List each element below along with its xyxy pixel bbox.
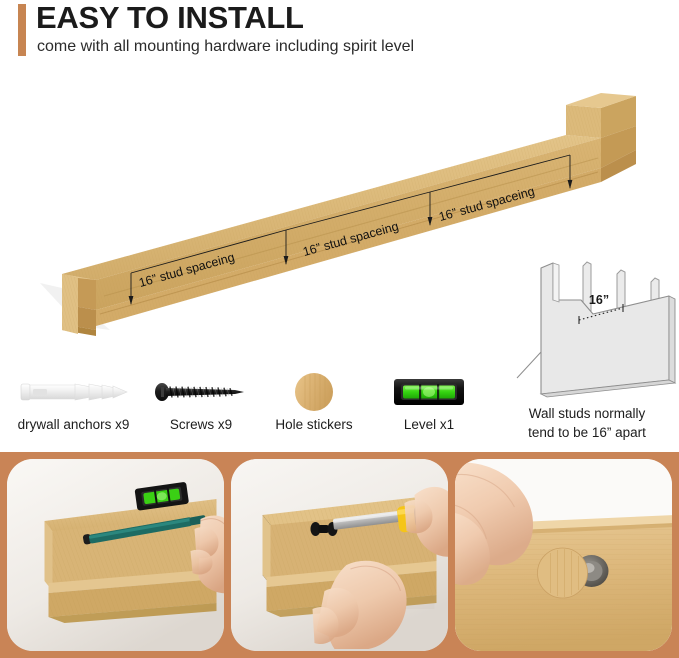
wall-studs-caption-line-2: tend to be 16” apart <box>495 423 679 442</box>
hardware-item-hole-stickers: Hole stickers <box>262 370 366 432</box>
wall-studs-drawing: 16” <box>495 252 679 402</box>
photo-hole-sticker <box>455 459 672 651</box>
photo-level-on-shelf <box>7 459 224 651</box>
hardware-label-level: Level x1 <box>376 417 482 432</box>
screw-icon <box>146 370 256 414</box>
accent-bar <box>18 4 26 56</box>
wall-studs-diagram: 16” Wall studs normally tend to be 16” a… <box>495 252 679 442</box>
stud-measure-label: 16” <box>589 293 609 307</box>
hole-sticker-icon <box>262 370 366 414</box>
wall-studs-caption: Wall studs normally tend to be 16” apart <box>495 404 679 442</box>
hardware-item-level: Level x1 <box>376 370 482 432</box>
photo-strip <box>0 452 679 658</box>
page-subtitle: come with all mounting hardware includin… <box>37 36 414 58</box>
drywall-anchor-icon <box>6 370 141 414</box>
hardware-label-screws: Screws x9 <box>146 417 256 432</box>
hardware-label-drywall-anchors: drywall anchors x9 <box>6 417 141 432</box>
hardware-label-hole-stickers: Hole stickers <box>262 417 366 432</box>
photo-screwdriver <box>231 459 448 651</box>
hardware-item-screws: Screws x9 <box>146 370 256 432</box>
spirit-level-icon <box>376 370 482 414</box>
wall-studs-caption-line-1: Wall studs normally <box>495 404 679 423</box>
header: EASY TO INSTALL come with all mounting h… <box>0 0 679 78</box>
hardware-item-drywall-anchors: drywall anchors x9 <box>6 370 141 432</box>
page-title: EASY TO INSTALL <box>36 0 304 36</box>
